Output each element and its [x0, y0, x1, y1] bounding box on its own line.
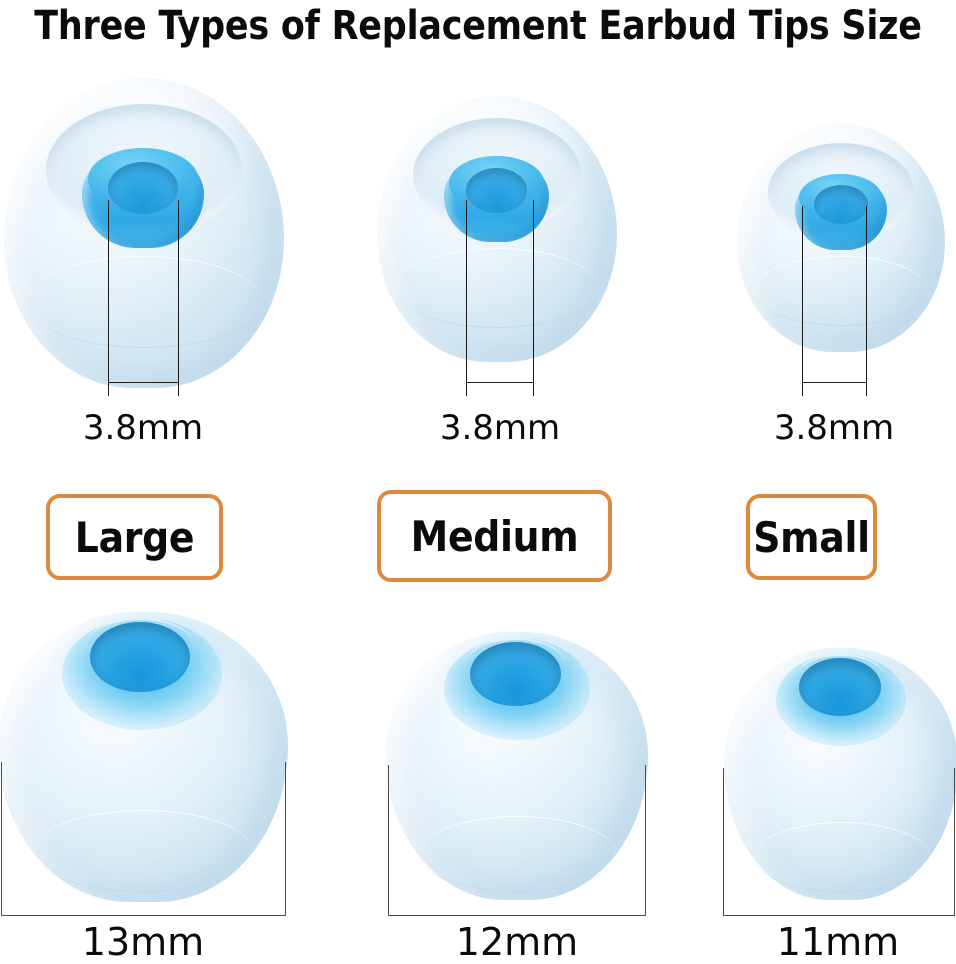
earbud-seam-line: [754, 822, 930, 892]
dimension-leader-right-large: [178, 200, 179, 396]
earbud-top-view-large: [4, 78, 284, 388]
earbud-tips-size-infographic: { "title": "Three Types of Replacement E…: [0, 0, 956, 964]
earbud-seam-line: [419, 816, 616, 892]
width-dimension-line-large: [1, 915, 285, 916]
dimension-connector-large: [108, 382, 178, 383]
size-chip-small[interactable]: Small: [746, 494, 877, 580]
page-title: Three Types of Replacement Earbud Tips S…: [14, 0, 941, 58]
width-tick-left-large: [1, 762, 2, 916]
dimension-leader-right-small: [866, 206, 867, 396]
width-tick-right-medium: [645, 765, 646, 916]
earbud-seam-line: [26, 256, 262, 348]
width-tick-right-small: [954, 768, 955, 916]
size-chip-medium[interactable]: Medium: [377, 490, 612, 582]
width-dimension-label-large: 13mm: [33, 920, 253, 964]
earbud-side-view-small: [724, 648, 956, 900]
dimension-leader-left-medium: [466, 200, 467, 396]
size-chip-large[interactable]: Large: [46, 494, 223, 580]
earbud-seam-line: [396, 248, 598, 328]
earbud-bore-hole: [466, 168, 527, 213]
bore-dimension-label-large: 3.8mm: [33, 408, 253, 448]
width-dimension-label-small: 11mm: [728, 920, 948, 964]
dimension-leader-left-small: [802, 206, 803, 396]
earbud-bore-hole: [108, 162, 178, 214]
earbud-top-view-medium: [377, 96, 617, 362]
earbud-rim-highlight: [86, 618, 194, 674]
width-tick-left-medium: [388, 765, 389, 916]
earbud-rim-highlight: [796, 654, 885, 702]
earbud-seam-line: [34, 810, 252, 892]
dimension-leader-left-large: [108, 200, 109, 396]
earbud-top-view-small: [737, 124, 945, 352]
earbud-side-view-large: [0, 612, 288, 902]
width-tick-right-large: [285, 762, 286, 916]
width-dimension-line-medium: [388, 915, 645, 916]
bore-dimension-label-medium: 3.8mm: [390, 408, 610, 448]
bore-dimension-label-small: 3.8mm: [724, 408, 944, 448]
earbud-rim-highlight: [466, 638, 565, 690]
width-dimension-line-small: [723, 915, 954, 916]
dimension-leader-right-medium: [533, 200, 534, 396]
width-tick-left-small: [723, 768, 724, 916]
dimension-connector-medium: [466, 382, 533, 383]
earbud-seam-line: [754, 256, 928, 326]
width-dimension-label-medium: 12mm: [407, 920, 627, 964]
earbud-side-view-medium: [386, 632, 648, 900]
earbud-bore-hole: [814, 185, 868, 224]
dimension-connector-small: [802, 382, 866, 383]
